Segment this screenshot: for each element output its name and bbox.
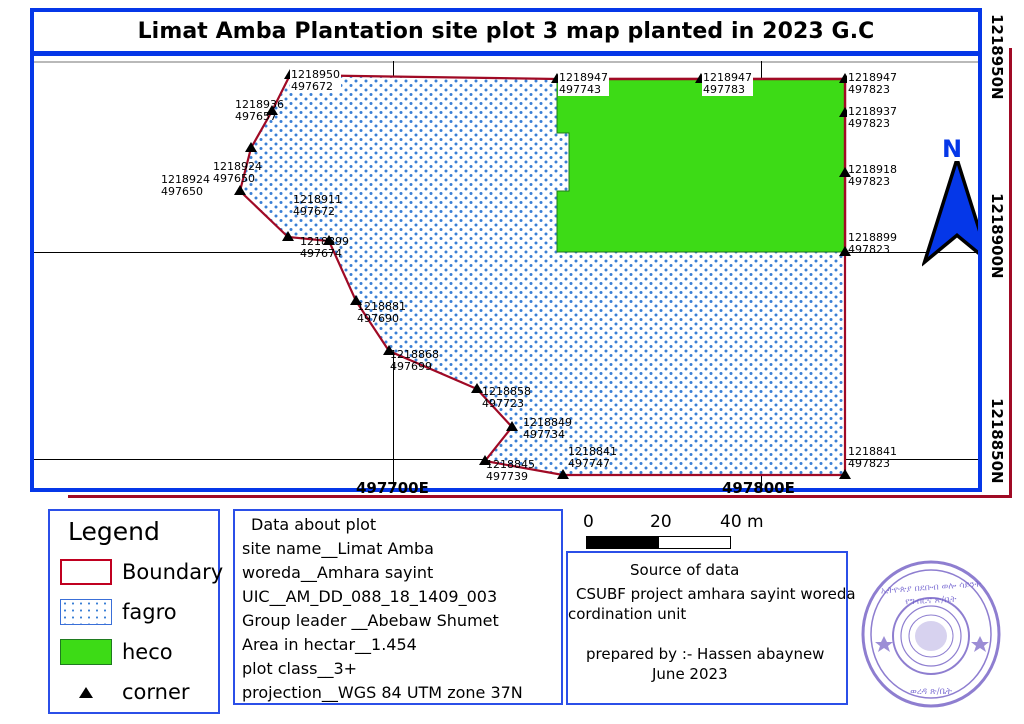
scale-tick-40: 40 m [720,512,764,532]
legend-item-corner: corner [60,679,190,705]
vertex-label: 1218947497743 [558,72,609,96]
data-line-projection: projection__WGS 84 UTM zone 37N [242,683,523,702]
prepared-date: June 2023 [652,665,728,683]
vertex-label: 1218841497747 [567,446,618,470]
page-title: Limat Amba Plantation site plot 3 map pl… [138,19,875,44]
legend-panel: Legend Boundary fagro heco corner [48,509,220,714]
data-line-area: Area in hectar__1.454 [242,635,417,654]
vertex-label: 1218881497690 [356,301,407,325]
data-line-group-leader: Group leader __Abebaw Shumet [242,611,499,630]
vertex-label: 1218918497823 [847,164,898,188]
legend-item-heco: heco [60,639,173,665]
north-arrow-label: N [942,135,962,163]
svg-text:ወረዳ ጽ/ቤት: ወረዳ ጽ/ቤት [910,687,952,697]
data-panel-heading: Data about plot [251,515,376,534]
map-frame: Limat Amba Plantation site plot 3 map pl… [30,8,982,492]
vertex-label: 1218947497823 [847,72,898,96]
vertex-label: 1218947497783 [702,72,753,96]
source-line-1: CSUBF project amhara sayint woreda [576,585,856,603]
legend-title: Legend [68,517,160,546]
data-line-uic: UIC__AM_DD_088_18_1409_003 [242,587,497,606]
triangle-icon [79,687,93,698]
corner-swatch [60,679,112,705]
boundary-swatch [60,559,112,585]
y-axis-label-1218950N: 1218950N [988,14,1006,100]
legend-label: heco [122,640,173,664]
vertex-label: 1218950497672 [290,69,341,93]
x-axis-label-497800E: 497800E [722,479,795,497]
plot-geometry [34,61,978,488]
scale-tick-20: 20 [650,512,672,532]
y-axis-label-1218900N: 1218900N [988,193,1006,279]
legend-label: corner [122,680,190,704]
source-of-data-panel: Source of data CSUBF project amhara sayi… [566,551,848,705]
vertex-label: 1218868497699 [389,349,440,373]
fagro-swatch [60,599,112,625]
vertex-label: 1218936497657 [234,99,285,123]
vertex-label: 1218899497674 [299,236,350,260]
data-line-site-name: site name__Limat Amba [242,539,434,558]
y-axis-label-1218850N: 1218850N [988,398,1006,484]
scale-bar-graphic [586,536,731,549]
scale-bar-fill [587,537,659,548]
official-seal-stamp: ኢትዮጵያ በደቡብ ወሎ ሳይንት የግብርና ጽ/ቤት ወረዳ ጽ/ቤት [858,556,1008,712]
heco-swatch [60,639,112,665]
prepared-by-line: prepared by :- Hassen abaynew [586,645,824,663]
north-arrow: N [922,139,978,259]
vertex-label: 1218849497734 [522,417,573,441]
source-line-2: cordination unit [568,605,686,623]
heco-polygon [557,79,845,252]
map-title-bar: Limat Amba Plantation site plot 3 map pl… [34,12,978,56]
svg-text:የግብርና ጽ/ቤት: የግብርና ጽ/ቤት [905,595,957,608]
vertex-label: 1218841497823 [847,446,898,470]
legend-item-boundary: Boundary [60,559,223,585]
plot-data-panel: Data about plot site name__Limat Amba wo… [233,509,563,705]
outer-frame-red-bottom [68,495,1012,498]
legend-label: Boundary [122,560,223,584]
data-line-plot-class: plot class__3+ [242,659,357,678]
legend-item-fagro: fagro [60,599,177,625]
vertex-label: 1218858497723 [481,386,532,410]
vertex-label: 1218845497739 [485,459,536,483]
vertex-label: 1218911497672 [292,194,343,218]
vertex-label: 1218924497650 [160,174,211,198]
scale-tick-0: 0 [583,512,594,532]
vertex-label: 1218937497823 [847,106,898,130]
data-line-woreda: woreda__Amhara sayint [242,563,433,582]
x-axis-label-497700E: 497700E [356,479,429,497]
legend-label: fagro [122,600,177,624]
scale-bar: 0 20 40 m [578,512,788,550]
vertex-label: 1218924497650 [212,161,263,185]
source-heading: Source of data [630,561,739,579]
map-canvas[interactable]: 1218950497672 1218936497657 121892449765… [34,61,978,488]
vertex-label: 1218899497823 [847,232,898,256]
outer-frame-red-right [1009,48,1012,498]
